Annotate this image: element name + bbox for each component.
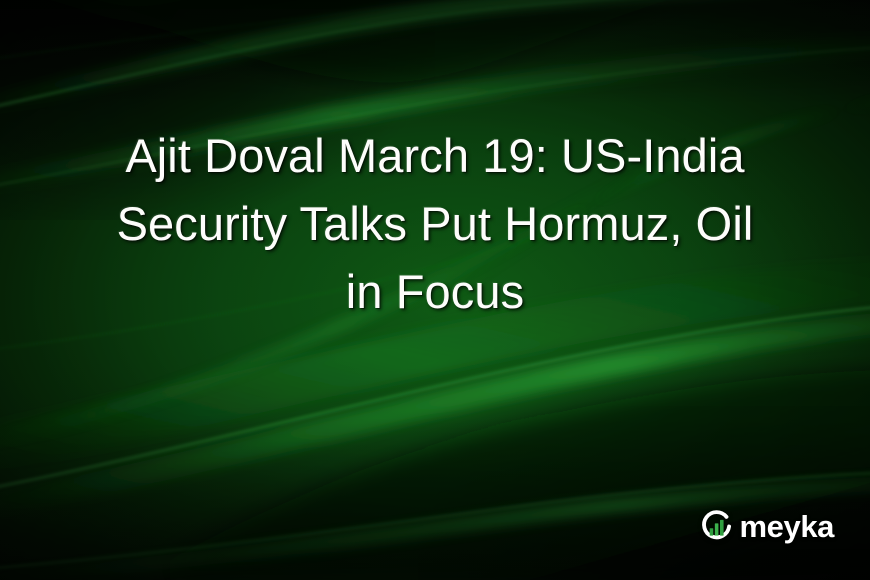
logo-wordmark: meyka [739, 511, 834, 542]
banner-title: Ajit Doval March 19: US-India Security T… [42, 122, 828, 326]
banner-title-container: Ajit Doval March 19: US-India Security T… [0, 122, 870, 326]
circle-bar-chart-icon [699, 509, 734, 544]
meyka-logo[interactable]: meyka [699, 509, 834, 544]
article-banner-image: Ajit Doval March 19: US-India Security T… [0, 0, 870, 580]
